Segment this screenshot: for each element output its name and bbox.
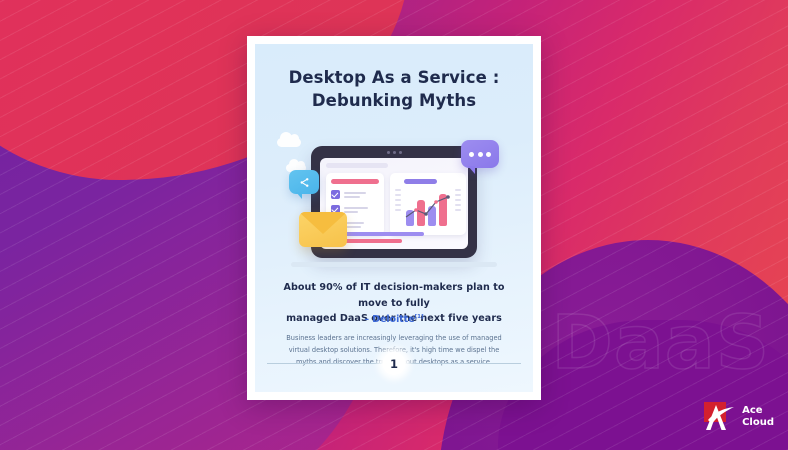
share-icon: [299, 177, 310, 188]
chart-card: [390, 173, 466, 235]
footnote-marker: [1]: [415, 314, 424, 320]
checklist-text-lines: [344, 207, 368, 213]
checklist-row: [331, 190, 366, 199]
checklist-text-lines: [344, 222, 364, 228]
page-title: Desktop As a Service : Debunking Myths: [269, 66, 519, 113]
quote-attribution: – Deloitte[1]: [271, 314, 517, 325]
ace-cloud-logo-icon: [702, 400, 736, 434]
screen-toolbar: [326, 163, 388, 168]
chart-header-bar: [404, 179, 437, 184]
logo-mark-svg: [702, 400, 736, 434]
envelope-icon: @: [299, 212, 347, 247]
slide-card-frame: Desktop As a Service : Debunking Myths: [247, 36, 541, 400]
chat-bubble-icon: [461, 140, 499, 168]
brand-name-line-1: Ace: [742, 405, 774, 417]
share-bubble-icon: [289, 170, 319, 194]
slide-card: Desktop As a Service : Debunking Myths: [255, 44, 533, 392]
cloud-icon: [277, 138, 301, 147]
slide-title-line-2: Debunking Myths: [269, 89, 519, 112]
stat-quote-line-1: About 90% of IT decision-makers plan to …: [271, 280, 517, 311]
brand-name-line-2: Cloud: [742, 417, 774, 429]
attribution-source: – Deloitte: [364, 314, 414, 325]
slide-screenshot: DaaS Desktop As a Service : Debunking My…: [0, 0, 788, 450]
window-dots-icon: [311, 151, 477, 154]
slide-title-line-1: Desktop As a Service :: [269, 66, 519, 89]
laptop-base-shadow: [291, 262, 497, 267]
checkbox-checked-icon: [331, 190, 340, 199]
chart-axis-ticks-left: [395, 189, 401, 211]
progress-bar: [345, 239, 402, 243]
page-number-badge: 1: [383, 352, 406, 375]
chart-trend-line: [404, 193, 452, 223]
brand-logo: Ace Cloud: [702, 400, 774, 434]
checklist-header-bar: [331, 179, 379, 184]
hero-illustration: @: [255, 126, 533, 286]
daas-watermark: DaaS: [551, 300, 770, 386]
checklist-text-lines: [344, 192, 366, 198]
envelope-flap: [299, 212, 347, 234]
brand-name: Ace Cloud: [742, 405, 774, 429]
chart-axis-ticks-right: [455, 189, 461, 211]
